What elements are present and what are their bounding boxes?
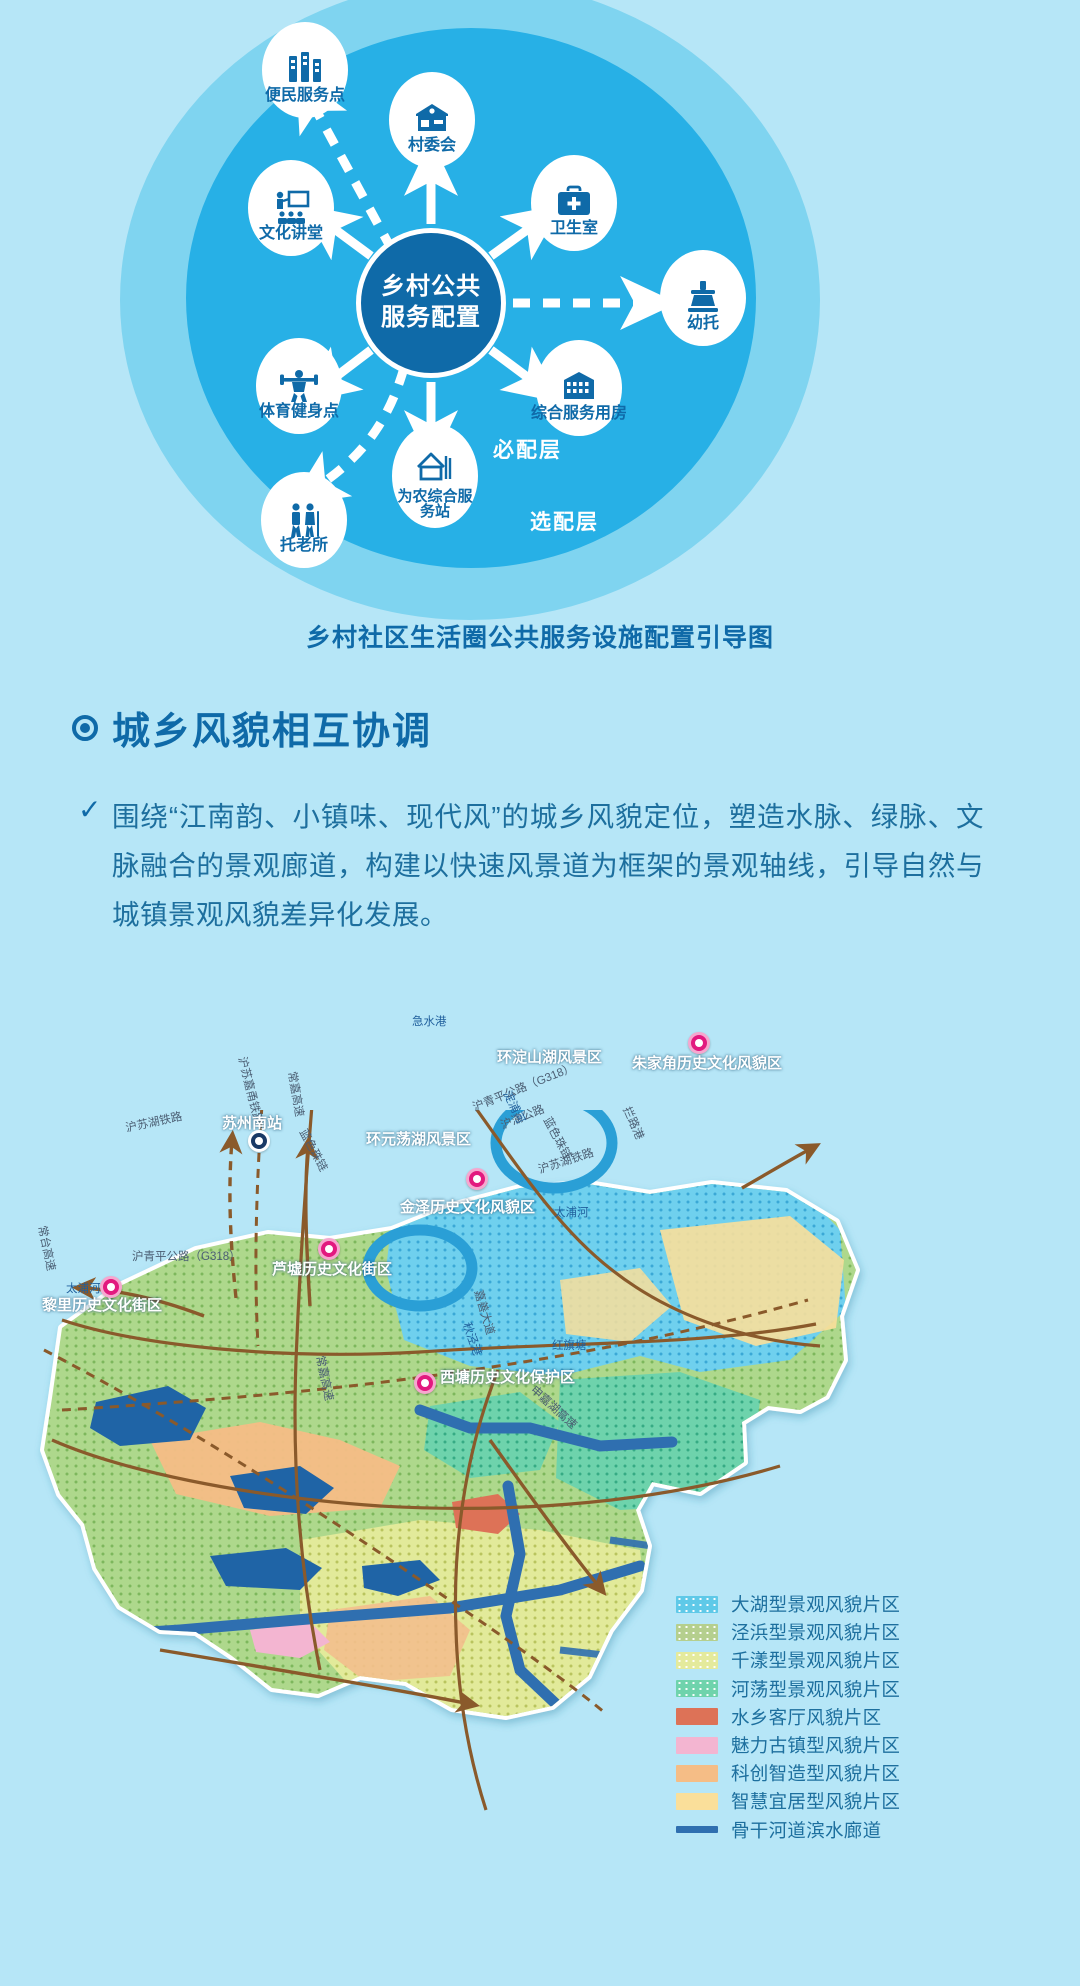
node-label: 卫生室 — [550, 221, 598, 238]
required-layer-label: 必配层 — [493, 434, 562, 464]
legend-swatch — [676, 1708, 718, 1725]
legend-item[interactable]: 千漾型景观风貌片区 — [676, 1646, 1006, 1674]
map-water-label: 急水港 — [412, 1013, 447, 1029]
hub-line-2: 服务配置 — [381, 303, 481, 334]
map-water-label: 红旗塘 — [552, 1337, 587, 1353]
legend-label: 科创智造型风貌片区 — [731, 1760, 900, 1786]
legend-label: 泾浜型景观风貌片区 — [731, 1619, 900, 1645]
map-place-label: 环元荡湖风景区 — [366, 1128, 471, 1149]
legend-item[interactable]: 河荡型景观风貌片区 — [676, 1675, 1006, 1703]
hub-line-1: 乡村公共 — [381, 272, 481, 303]
node-culture-lecture[interactable]: 文化讲堂 — [248, 160, 334, 256]
legend-item[interactable]: 科创智造型风貌片区 — [676, 1759, 1006, 1787]
marker-xitang[interactable] — [414, 1372, 436, 1394]
service-building-icon — [557, 368, 601, 408]
figure-caption: 乡村社区生活圈公共服务设施配置引导图 — [0, 618, 1080, 654]
elderly-care-icon — [282, 500, 326, 540]
legend-swatch — [676, 1680, 718, 1697]
legend-swatch — [676, 1596, 718, 1613]
marker-lili[interactable] — [100, 1276, 122, 1298]
node-label: 托老所 — [280, 538, 328, 555]
node-label: 为农综合服务站 — [395, 489, 475, 521]
map-graphic — [0, 1110, 1080, 1986]
node-fitness[interactable]: 体育健身点 — [256, 338, 342, 434]
legend-label: 千漾型景观风貌片区 — [731, 1647, 900, 1673]
village-committee-icon — [410, 100, 454, 140]
map-place-label: 环淀山湖风景区 — [497, 1046, 602, 1067]
map-place-label: 西塘历史文化保护区 — [440, 1366, 575, 1387]
section-paragraph-row: ✓ 围绕“江南韵、小镇味、现代风”的城乡风貌定位，塑造水脉、绿脉、文脉融合的景观… — [78, 793, 1008, 940]
fitness-icon — [277, 366, 321, 406]
legend-swatch — [676, 1737, 718, 1754]
service-configuration-diagram: 乡村公共 服务配置 便民服务点 — [0, 0, 1080, 600]
diagram-hub: 乡村公共 服务配置 — [356, 228, 506, 378]
section-heading-row: 城乡风貌相互协调 — [72, 700, 1080, 755]
culture-lecture-icon — [269, 188, 313, 228]
legend-swatch — [676, 1826, 718, 1833]
map-place-label: 朱家角历史文化风貌区 — [632, 1052, 782, 1073]
legend-label: 大湖型景观风貌片区 — [731, 1591, 900, 1617]
check-icon: ✓ — [78, 793, 112, 940]
marker-luxu[interactable] — [318, 1238, 340, 1260]
map-road-label: 沪青平公路（G318） — [132, 1248, 241, 1264]
node-elderly-care[interactable]: 托老所 — [261, 472, 347, 568]
node-clinic[interactable]: 卫生室 — [531, 155, 617, 251]
node-farm-service-station[interactable]: 为农综合服务站 — [392, 424, 478, 528]
node-label: 村委会 — [408, 138, 456, 155]
legend-label: 水乡客厅风貌片区 — [731, 1704, 881, 1730]
section-heading: 城乡风貌相互协调 — [112, 700, 432, 755]
map-place-label: 苏州南站 — [222, 1112, 282, 1133]
map-place-label: 黎里历史文化街区 — [42, 1294, 162, 1315]
legend-label: 河荡型景观风貌片区 — [731, 1676, 900, 1702]
legend-swatch — [676, 1624, 718, 1641]
legend-item[interactable]: 泾浜型景观风貌片区 — [676, 1618, 1006, 1646]
map-place-label: 芦墟历史文化街区 — [272, 1258, 392, 1279]
map-place-label: 金泽历史文化风貌区 — [400, 1196, 535, 1217]
legend-label: 魅力古镇型风貌片区 — [731, 1732, 900, 1758]
legend-swatch — [676, 1652, 718, 1669]
ring-bullet-icon — [72, 715, 98, 741]
node-service-building[interactable]: 综合服务用房 — [536, 340, 622, 436]
marker-jinze[interactable] — [466, 1168, 488, 1190]
node-childcare[interactable]: 幼托 — [660, 250, 746, 346]
clinic-medical-kit-icon — [552, 183, 596, 223]
marker-zhujiajiao[interactable] — [688, 1032, 710, 1054]
marker-suzhou-south-station[interactable] — [248, 1130, 270, 1152]
legend-item[interactable]: 大湖型景观风貌片区 — [676, 1590, 1006, 1618]
legend-item[interactable]: 魅力古镇型风貌片区 — [676, 1731, 1006, 1759]
map-legend: 大湖型景观风貌片区 泾浜型景观风貌片区 千漾型景观风貌片区 河荡型景观风貌片区 … — [676, 1590, 1006, 1844]
service-point-icon — [283, 50, 327, 90]
node-village-committee[interactable]: 村委会 — [389, 72, 475, 168]
node-label: 文化讲堂 — [259, 226, 323, 243]
node-service-point[interactable]: 便民服务点 — [262, 22, 348, 118]
childcare-icon — [681, 278, 725, 318]
landscape-feature-map — [0, 1110, 1080, 1986]
legend-item[interactable]: 骨干河道滨水廊道 — [676, 1816, 1006, 1844]
legend-swatch — [676, 1793, 718, 1810]
node-label: 综合服务用房 — [531, 406, 627, 423]
legend-swatch — [676, 1765, 718, 1782]
content-section: 城乡风貌相互协调 ✓ 围绕“江南韵、小镇味、现代风”的城乡风貌定位，塑造水脉、绿… — [0, 700, 1080, 940]
node-label: 体育健身点 — [259, 404, 339, 421]
node-label: 幼托 — [687, 316, 719, 333]
legend-label: 骨干河道滨水廊道 — [731, 1817, 881, 1843]
legend-label: 智慧宜居型风貌片区 — [731, 1788, 900, 1814]
node-label: 便民服务点 — [265, 88, 345, 105]
section-paragraph: 围绕“江南韵、小镇味、现代风”的城乡风貌定位，塑造水脉、绿脉、文脉融合的景观廊道… — [112, 793, 984, 940]
map-water-label: 太浦河 — [554, 1204, 589, 1220]
optional-layer-label: 选配层 — [530, 506, 599, 536]
legend-item[interactable]: 水乡客厅风貌片区 — [676, 1703, 1006, 1731]
farm-service-station-icon — [413, 447, 457, 487]
page-root: 乡村公共 服务配置 便民服务点 — [0, 0, 1080, 1986]
legend-item[interactable]: 智慧宜居型风貌片区 — [676, 1787, 1006, 1815]
